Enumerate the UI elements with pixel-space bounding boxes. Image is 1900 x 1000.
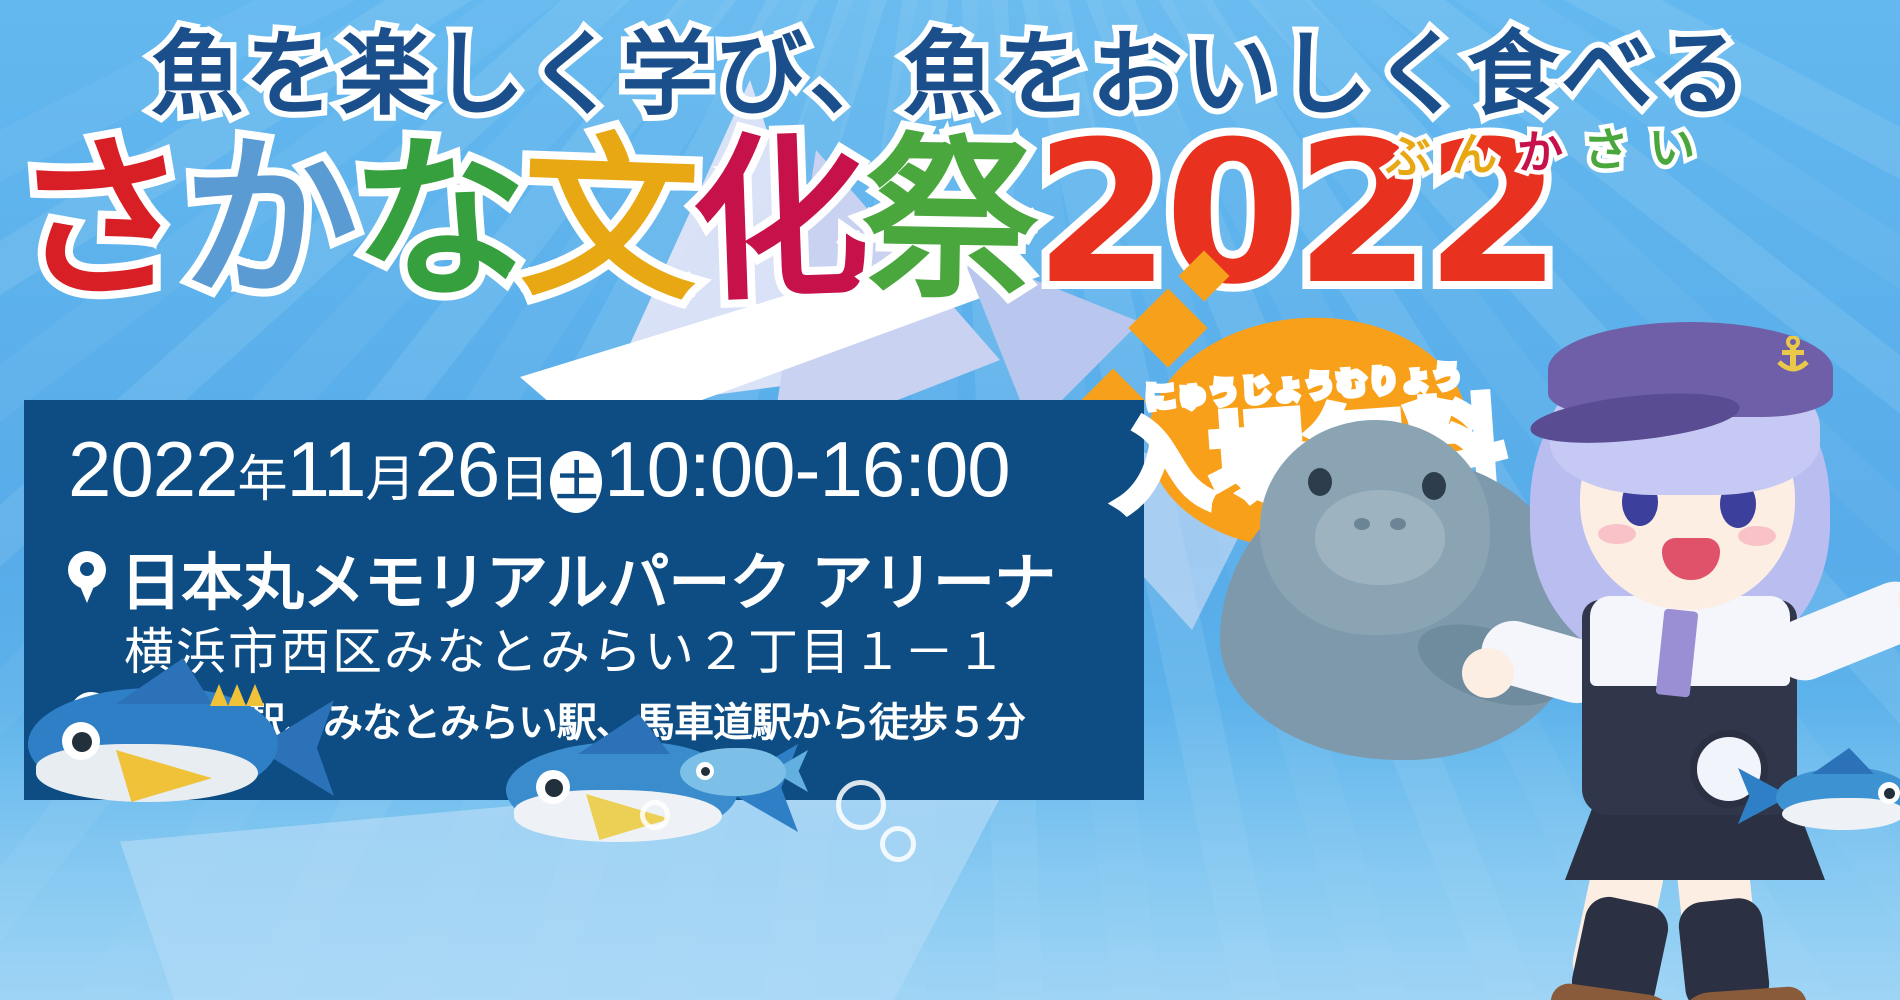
date-day-unit: 日: [499, 439, 548, 511]
location-pin-icon: [68, 551, 106, 603]
date-year-unit: 年: [238, 439, 287, 511]
manatee-snout: [1315, 490, 1445, 585]
title-char-4: 文: [519, 134, 701, 307]
mascot-illustration: [1230, 300, 1890, 990]
small-fish: [676, 730, 806, 810]
bubble-3: [640, 800, 670, 830]
title-char-3: な: [349, 134, 531, 307]
event-time: 10:00-16:00: [604, 424, 1009, 515]
manatee-eye-right: [1422, 472, 1446, 500]
mackerel-pupil: [545, 779, 563, 797]
small-fish-pupil: [701, 767, 710, 776]
girl-blush-left: [1598, 524, 1636, 544]
anchor-icon: [1775, 336, 1811, 374]
title-char-5: 化: [689, 134, 871, 307]
bubble-2: [880, 826, 916, 862]
manatee-eye-left: [1308, 468, 1332, 496]
date-day: 26: [415, 424, 500, 515]
manatee-nostril-right: [1390, 518, 1406, 530]
weekday-badge: 土: [550, 451, 602, 513]
date-year: 2022: [68, 424, 238, 515]
sardine-pupil: [1884, 788, 1895, 799]
ruby-char-3: か: [1516, 115, 1566, 183]
main-title: さ か な 文 化 祭 2022: [14, 104, 1574, 304]
date-month: 11: [287, 424, 366, 515]
title-char-1: さ: [10, 132, 195, 308]
title-char-6: 祭: [861, 135, 1040, 305]
ruby-char-4: さ: [1582, 113, 1632, 181]
venue-row: 日本丸メモリアルパーク アリーナ: [68, 532, 1055, 622]
manatee-nostril-left: [1354, 518, 1370, 530]
event-date-row: 2022 年 11 月 26 日 土 10:00-16:00: [68, 424, 1010, 515]
girl-blush-right: [1738, 526, 1776, 546]
tuna-finlets: [210, 684, 270, 706]
girl-hand-left: [1462, 648, 1514, 698]
ruby-char-5: い: [1648, 111, 1698, 179]
tuna-dorsal-fin: [116, 658, 212, 704]
title-char-2: か: [179, 134, 361, 307]
tuna-pupil: [72, 732, 92, 752]
ruby-char-2: ん: [1450, 117, 1500, 185]
sardine-fish: [1736, 740, 1900, 850]
mackerel-dorsal-fin: [578, 714, 670, 754]
date-month-unit: 月: [366, 439, 415, 511]
title-ruby: ぶ ん か さ い: [1384, 111, 1698, 188]
sardine-belly: [1782, 798, 1900, 830]
poster-root: 魚を楽しく学び、魚をおいしく食べる さ か な 文 化 祭 2022 ぶ ん か…: [0, 0, 1900, 1000]
venue-name: 日本丸メモリアルパーク アリーナ: [120, 532, 1055, 622]
tuna-fish: [20, 640, 320, 830]
ruby-char-1: ぶ: [1384, 120, 1434, 188]
bubble-1: [836, 780, 886, 830]
sardine-dorsal-fin: [1812, 748, 1874, 774]
girl-sock-right: [1676, 896, 1771, 1000]
